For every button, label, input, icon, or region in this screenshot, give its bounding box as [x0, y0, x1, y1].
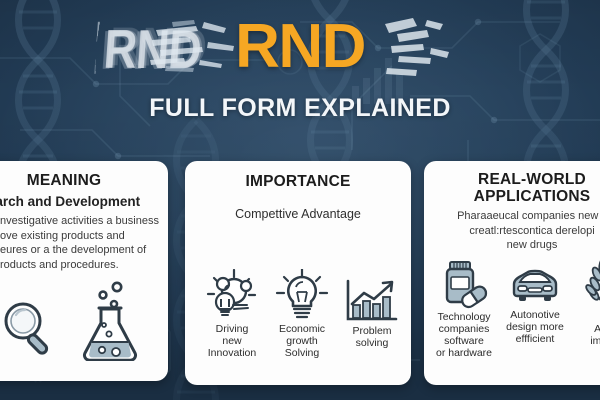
- wheat-icon: [580, 257, 600, 321]
- applications-item-technology-label: Technology companies software or hardwar…: [436, 311, 492, 359]
- flask-icon: [78, 279, 144, 361]
- importance-item-innovation-label: Driving new Innovation: [208, 323, 256, 359]
- importance-item-problem-solving[interactable]: Problem solving: [337, 279, 407, 349]
- card-meaning-body-line: nvestigative activities a business: [0, 214, 168, 229]
- poster-header: RND: [0, 0, 600, 155]
- pill-bottle-icon: [437, 261, 491, 309]
- label-line: Innovation: [208, 347, 256, 359]
- card-meaning-body-line: roducts and procedures.: [0, 258, 168, 273]
- importance-item-economic-growth[interactable]: Economic growth Solving: [267, 269, 337, 359]
- card-applications-body: Pharaaeucal companies new c creatl:rtesc…: [424, 209, 600, 253]
- label-line: effficient: [506, 333, 564, 345]
- card-importance-title: IMPORTANCE: [185, 173, 411, 191]
- label-line: growth: [279, 335, 325, 347]
- glitched-lightbulb-icon: [203, 269, 261, 321]
- car-icon: [504, 267, 566, 307]
- applications-item-agriculture-label: Agricu improve yie: [590, 323, 600, 359]
- card-real-world-applications[interactable]: REAL-WORLD APPLICATIONS Pharaaeucal comp…: [424, 161, 600, 385]
- applications-item-automotive-label: Autonotive design more effficient: [506, 309, 564, 345]
- poster-subtitle: FULL FORM EXPLAINED: [0, 94, 600, 123]
- label-line: software: [436, 335, 492, 347]
- label-line: Driving: [208, 323, 256, 335]
- logo-text: RND: [0, 16, 600, 78]
- card-importance-subtitle: Compettive Advantage: [185, 207, 411, 221]
- applications-item-agriculture[interactable]: Agricu improve yie: [570, 257, 600, 359]
- bar-chart-growth-icon: [343, 279, 401, 323]
- label-line: design more: [506, 321, 564, 333]
- label-line: solving: [352, 337, 391, 349]
- label-line: Problem: [352, 325, 391, 337]
- infographic-poster: RND: [0, 0, 600, 400]
- label-line: Economic: [279, 323, 325, 335]
- label-line: or hardware: [436, 347, 492, 359]
- importance-item-problem-solving-label: Problem solving: [352, 325, 391, 349]
- card-meaning-body: nvestigative activities a business ove e…: [0, 214, 168, 272]
- card-meaning-title: MEANING: [0, 172, 168, 190]
- lightbulb-icon: [274, 269, 330, 321]
- label-line: new: [208, 335, 256, 347]
- card-applications-body-line: Pharaaeucal companies new c: [424, 209, 600, 224]
- card-applications-title-line1: REAL-WORLD: [424, 171, 600, 188]
- card-importance[interactable]: IMPORTANCE Compettive Advantage: [185, 161, 411, 385]
- card-applications-title-line2: APPLICATIONS: [424, 188, 600, 205]
- label-line: Autonotive: [506, 309, 564, 321]
- label-line: Solving: [279, 347, 325, 359]
- card-meaning-subtitle: earch and Development: [0, 194, 168, 209]
- card-meaning-body-line: eures or a the development of: [0, 243, 168, 258]
- card-applications-body-line: creatl:rtescontica derelopi: [424, 224, 600, 239]
- card-applications-title: REAL-WORLD APPLICATIONS: [424, 171, 600, 205]
- card-meaning-body-line: ove existing products and: [0, 229, 168, 244]
- magnifying-glass-icon: [0, 297, 60, 359]
- importance-item-economic-growth-label: Economic growth Solving: [279, 323, 325, 359]
- label-line: Agricu: [590, 323, 600, 335]
- applications-item-technology[interactable]: Technology companies software or hardwar…: [428, 261, 500, 359]
- card-applications-body-line: new drugs: [424, 238, 600, 253]
- label-line: Technology: [436, 311, 492, 323]
- card-meaning[interactable]: MEANING earch and Development nvestigati…: [0, 161, 168, 381]
- label-line: improve: [590, 335, 600, 347]
- label-line: companies: [436, 323, 492, 335]
- applications-item-automotive[interactable]: Autonotive design more effficient: [497, 267, 573, 345]
- importance-item-innovation[interactable]: Driving new Innovation: [197, 269, 267, 359]
- label-line: yie: [590, 347, 600, 359]
